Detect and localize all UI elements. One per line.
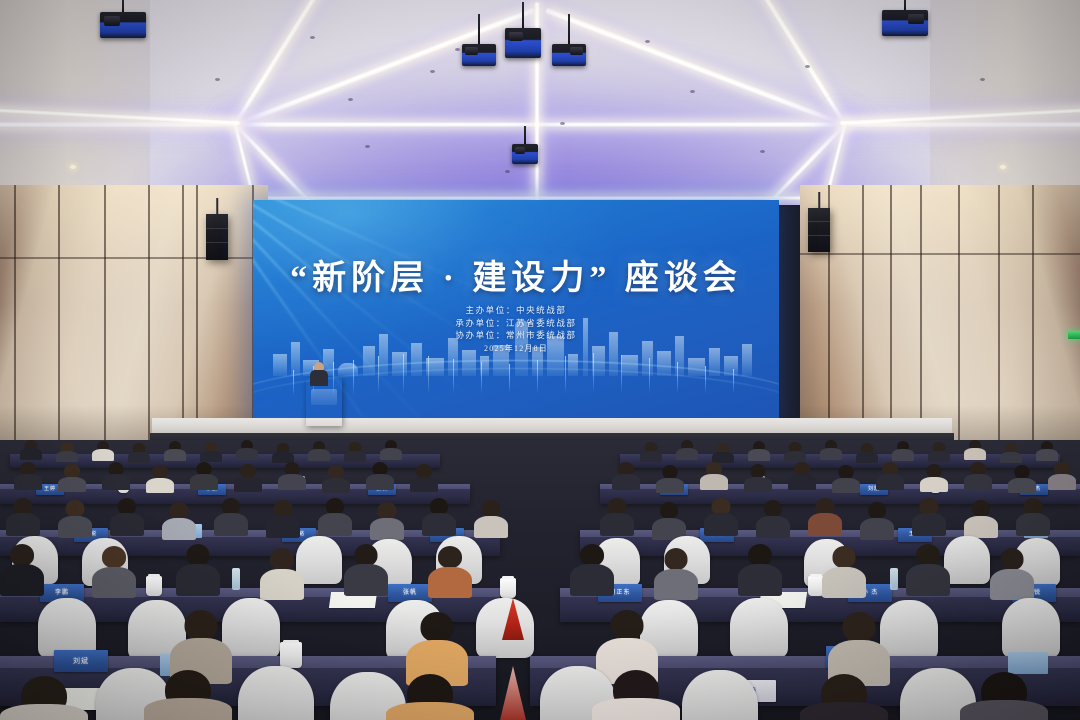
stage-light-fixture	[552, 14, 586, 72]
screen-organizer-line: 主办单位：中央统战部	[253, 304, 779, 317]
line-array-speaker-right	[808, 208, 830, 252]
audience-member	[860, 502, 894, 540]
audience-chair	[730, 598, 788, 658]
audience-member	[748, 441, 770, 461]
audience-member	[1048, 462, 1076, 490]
audience-member	[102, 462, 130, 490]
audience-member	[366, 462, 394, 490]
audience-member	[318, 498, 352, 536]
audience-member	[128, 443, 150, 463]
podium-logo	[311, 389, 337, 405]
audience-member	[990, 548, 1034, 600]
audience-member	[744, 464, 772, 492]
audience-member	[234, 464, 262, 492]
audience-member	[474, 500, 508, 538]
stage-light-fixture	[882, 0, 928, 42]
audience-chair	[476, 598, 534, 658]
audience-member	[272, 443, 294, 463]
audience-member	[928, 442, 950, 462]
line-array-speaker-left	[206, 214, 228, 260]
audience-member	[144, 670, 232, 720]
audience-member	[788, 462, 816, 490]
audience-member	[236, 440, 258, 460]
ceiling-border-right	[930, 0, 1080, 205]
audience-member	[784, 442, 806, 462]
audience-member	[344, 544, 388, 596]
audience-member	[964, 462, 992, 490]
audience-member	[92, 441, 114, 461]
ceiling-purple-glow	[160, 62, 920, 206]
ceiling-downlight	[645, 40, 650, 43]
ceiling-downlight	[505, 170, 510, 173]
exit-sign-icon	[1068, 331, 1080, 339]
tea-cup	[500, 578, 516, 598]
audience-member	[410, 464, 438, 492]
audience-member	[906, 544, 950, 596]
audience-member	[640, 442, 662, 462]
ceiling-downlight	[760, 150, 765, 153]
audience-member	[6, 498, 40, 536]
audience-member	[700, 462, 728, 490]
audience-member	[176, 544, 220, 596]
audience-member	[1016, 498, 1050, 536]
audience-member	[856, 443, 878, 463]
audience-member	[344, 442, 366, 462]
audience-chair	[1002, 598, 1060, 658]
audience-member	[876, 462, 904, 490]
audience-member	[612, 462, 640, 490]
audience-member	[386, 674, 474, 720]
audience-member	[92, 546, 136, 598]
audience-member	[820, 440, 842, 460]
audience-member	[308, 441, 330, 461]
audience-member	[20, 440, 42, 460]
audience-member	[164, 441, 186, 461]
stage-light-fixture	[100, 0, 146, 42]
audience-member	[162, 502, 196, 540]
audience-member	[960, 672, 1048, 720]
audience-member	[14, 462, 42, 490]
ceiling-downlight	[805, 65, 810, 68]
audience-member	[1008, 465, 1036, 493]
audience-member	[654, 548, 698, 600]
audience-member	[58, 500, 92, 538]
name-card: 刘斌	[54, 650, 108, 672]
audience-member	[592, 670, 680, 720]
audience-member	[190, 462, 218, 490]
audience-member	[738, 544, 782, 596]
ceiling-downlight	[980, 78, 985, 81]
laptop	[1008, 652, 1048, 674]
audience-member	[800, 674, 888, 720]
audience-member	[1000, 443, 1022, 463]
water-bottle	[232, 568, 240, 590]
screen-subtitle-block: 主办单位：中央统战部 承办单位：江苏省委统战部 协办单位：常州市委统战部 202…	[253, 304, 779, 355]
ceiling-downlight	[560, 122, 565, 125]
audience-member	[278, 462, 306, 490]
audience-member	[260, 548, 304, 600]
audience-chair	[944, 536, 990, 584]
ceiling-downlight	[70, 165, 76, 169]
audience-member	[964, 440, 986, 460]
ceiling-downlight	[365, 145, 370, 148]
audience-member	[428, 546, 472, 598]
audience-member	[756, 500, 790, 538]
wall-seam-horizontal	[800, 253, 1080, 255]
audience-member	[422, 498, 456, 536]
audience-member	[214, 498, 248, 536]
stage-light-fixture	[462, 14, 496, 72]
stage-light-fixture	[505, 2, 541, 68]
stage-platform	[152, 418, 952, 434]
audience-member	[380, 440, 402, 460]
audience-member	[110, 498, 144, 536]
audience-member	[656, 465, 684, 493]
audience-member	[0, 544, 44, 596]
led-strip	[235, 122, 850, 127]
screen-cohost-line: 协办单位：常州市委统战部	[253, 329, 779, 342]
audience-member	[652, 502, 686, 540]
audience-member	[892, 441, 914, 461]
audience-member	[712, 443, 734, 463]
audience-chair	[38, 598, 96, 658]
audience-member	[600, 498, 634, 536]
audience-member	[266, 500, 300, 538]
ceiling-downlight	[310, 36, 315, 39]
speaker-at-podium	[310, 362, 328, 384]
ceiling-downlight	[215, 78, 220, 81]
audience-member	[920, 464, 948, 492]
audience-member	[200, 442, 222, 462]
screen-title: “新阶层 · 建设力” 座谈会	[253, 250, 779, 299]
wall-uplight-glow	[800, 185, 1080, 305]
audience-member	[0, 676, 88, 720]
stage-light-fixture	[512, 126, 538, 168]
audience-member	[1036, 441, 1058, 461]
ceiling	[0, 0, 1080, 205]
red-table-banner	[500, 666, 526, 720]
ceiling-downlight	[1000, 165, 1006, 169]
audience-member	[322, 465, 350, 493]
water-bottle	[890, 568, 898, 590]
audience-member	[370, 502, 404, 540]
audience-member	[704, 498, 738, 536]
screen-date: 2025年12月8日	[253, 343, 779, 356]
audience-member	[56, 442, 78, 462]
ceiling-downlight	[690, 90, 695, 93]
tea-cup	[146, 576, 162, 596]
audience-member	[832, 465, 860, 493]
audience-member	[822, 546, 866, 598]
audience-member	[964, 500, 998, 538]
audience-member	[676, 440, 698, 460]
audience-member	[912, 498, 946, 536]
conference-hall-photo: “新阶层 · 建设力” 座谈会 主办单位：中央统战部 承办单位：江苏省委统战部 …	[0, 0, 1080, 720]
ceiling-downlight	[455, 48, 460, 51]
audience-member	[570, 544, 614, 596]
ceiling-downlight	[348, 98, 353, 101]
audience-floor: 王婷 李鹏 张帆 周正东 刘斌 孙 杰 永锐 方铭 陈	[0, 440, 1080, 720]
audience-member	[146, 465, 174, 493]
audience-member	[58, 464, 86, 492]
screen-host-line: 承办单位：江苏省委统战部	[253, 317, 779, 330]
ceiling-downlight	[430, 70, 435, 73]
tea-cup	[280, 642, 302, 668]
audience-member	[808, 498, 842, 536]
